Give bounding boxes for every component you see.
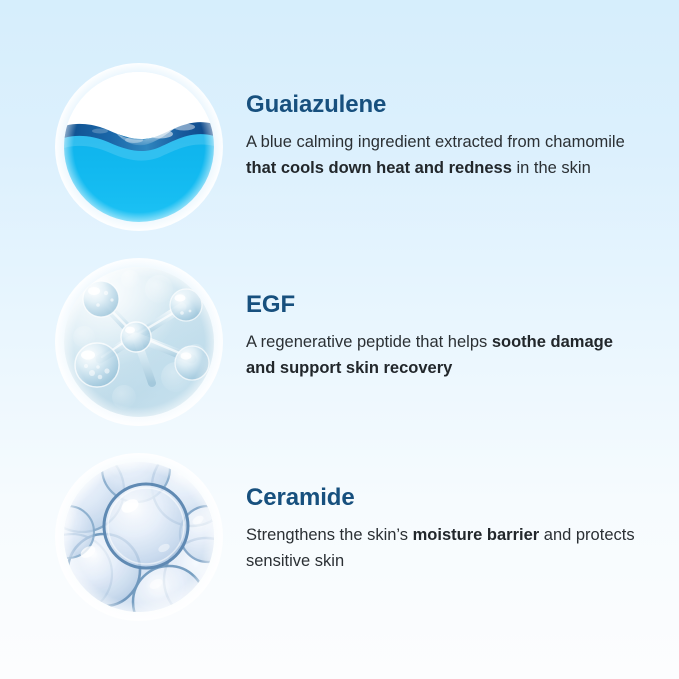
- ingredient-description: Strengthens the skin’s moisture barrier …: [246, 523, 636, 574]
- bubbles-image: [64, 462, 214, 612]
- ingredient-image-wrap-egf: [64, 267, 214, 417]
- ingredient-title: Guaiazulene: [246, 91, 679, 119]
- ingredient-block-ceramide: Ceramide Strengthens the skin’s moisture…: [0, 462, 679, 612]
- ingredient-text-egf: EGF A regenerative peptide that helps so…: [246, 267, 679, 381]
- ingredient-poster: Guaiazulene A blue calming ingredient ex…: [0, 0, 679, 679]
- ingredient-image-wrap-ceramide: [64, 462, 214, 612]
- molecule-structure: [64, 267, 214, 417]
- water-surface-wave: [64, 72, 214, 222]
- ingredient-title: EGF: [246, 291, 679, 319]
- ingredient-image-wrap-guaiazulene: [64, 72, 214, 222]
- bubble-cluster: [64, 462, 214, 612]
- ingredient-text-guaiazulene: Guaiazulene A blue calming ingredient ex…: [246, 72, 679, 181]
- molecule-image: [64, 267, 214, 417]
- ingredient-description: A blue calming ingredient extracted from…: [246, 130, 636, 181]
- ingredient-description: A regenerative peptide that helps soothe…: [246, 330, 636, 381]
- ingredient-text-ceramide: Ceramide Strengthens the skin’s moisture…: [246, 462, 679, 574]
- ingredient-block-guaiazulene: Guaiazulene A blue calming ingredient ex…: [0, 72, 679, 222]
- ingredient-title: Ceramide: [246, 484, 679, 512]
- water-surface-image: [64, 72, 214, 222]
- ingredient-block-egf: EGF A regenerative peptide that helps so…: [0, 267, 679, 417]
